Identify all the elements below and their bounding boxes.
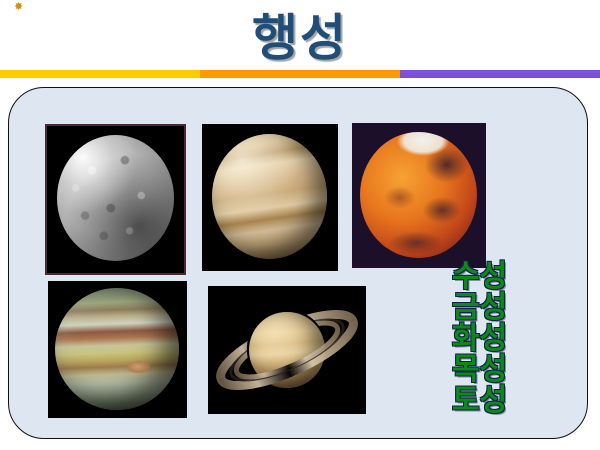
divider-segment-orange [200, 70, 400, 78]
jupiter-sphere [55, 288, 179, 410]
planet-image-mercury [45, 124, 186, 275]
venus-sphere [212, 134, 328, 259]
planet-name-saturn: 토성 [452, 386, 572, 417]
planet-name-venus: 금성 [452, 293, 572, 324]
mars-sphere [360, 132, 477, 258]
divider-segment-purple [400, 70, 600, 78]
planet-image-saturn [208, 286, 366, 414]
page-title: 행성 [252, 0, 348, 70]
saturn-rings-front-icon [208, 286, 366, 414]
planet-image-jupiter [48, 281, 187, 418]
divider-segment-yellow [0, 70, 200, 78]
planet-image-venus [202, 124, 338, 271]
planet-name-list: 수성 금성 화성 목성 토성 [452, 262, 572, 416]
planet-name-mars: 화성 [452, 324, 572, 355]
title-bar: 행성 [0, 0, 600, 68]
planet-image-mars [352, 123, 486, 268]
planet-name-mercury: 수성 [452, 262, 572, 293]
divider [0, 70, 600, 78]
jupiter-great-red-spot [127, 361, 151, 373]
saturn-scene [208, 286, 366, 414]
mercury-sphere [57, 135, 175, 261]
planet-name-jupiter: 목성 [452, 355, 572, 386]
